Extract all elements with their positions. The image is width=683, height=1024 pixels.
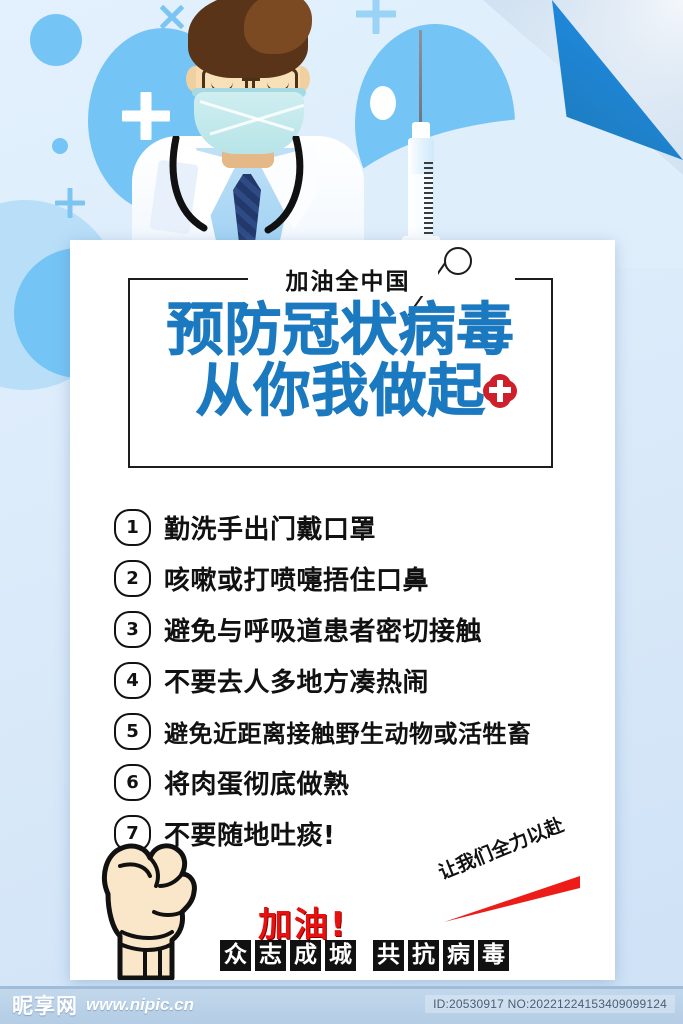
list-item: 6 将肉蛋彻底做熟 [114,757,594,808]
list-item-number: 4 [114,662,151,699]
medical-cross-icon [483,374,517,408]
asset-id-badge: ID:20530917 NO:20221224153409099124 [425,995,675,1013]
frame-border-bottom [128,466,553,468]
plus-icon [55,188,85,218]
boxed-character: 抗 [408,940,439,971]
background-blob [30,14,82,66]
background-blob [52,138,68,154]
title-frame: 加油全中国 预防冠状病毒 从你我做起 [128,278,553,468]
pledge-slogan-group: 让我们全力以赴 [440,840,620,930]
title-line-1: 预防冠状病毒 [128,300,553,361]
raised-fist-illustration [90,832,210,980]
glasses-bridge [242,78,260,81]
content-card: 加油全中国 预防冠状病毒 从你我做起 1 勤洗手出门戴口罩 2 咳嗽或打喷嚏捂住 [70,240,615,980]
site-url[interactable]: www.nipic.cn [86,995,194,1015]
list-item-number: 5 [114,713,151,750]
list-item: 5 避免近距离接触野生动物或活牲畜 [114,706,594,757]
list-item-text: 将肉蛋彻底做熟 [164,764,350,801]
list-item: 3 避免与呼吸道患者密切接触 [114,604,594,655]
syringe-needle [419,30,422,126]
header-badge-text: 加油全中国 [258,262,438,296]
syringe-illustration [398,30,444,246]
boxed-character: 病 [443,940,474,971]
list-item-text: 不要去人多地方凑热闹 [164,662,429,699]
list-item-text: 避免近距离接触野生动物或活牲畜 [164,714,532,749]
boxed-slogan-row: 众 志 成 城 共 抗 病 毒 [220,940,509,971]
boxed-character: 共 [373,940,404,971]
list-item-number: 1 [114,509,151,546]
cross-plus [488,379,512,403]
frame-border-top-right [515,278,553,280]
watermark-footer: 昵享网 www.nipic.cn ID:20530917 NO:20221224… [0,986,683,1024]
list-item-text: 避免与呼吸道患者密切接触 [164,611,482,648]
stethoscope-icon [146,136,326,246]
boxed-character: 毒 [478,940,509,971]
decorative-circle-icon [444,247,472,275]
list-item-number: 3 [114,611,151,648]
list-item: 2 咳嗽或打喷嚏捂住口鼻 [114,553,594,604]
list-item-text: 咳嗽或打喷嚏捂住口鼻 [164,560,429,597]
footer-divider [0,986,683,989]
boxed-character: 志 [255,940,286,971]
site-logo: 昵享网 [12,990,78,1020]
list-item-number: 2 [114,560,151,597]
boxed-character: 城 [325,940,356,971]
frame-border-top-left [128,278,248,280]
syringe-graduations [424,162,433,234]
boxed-character: 成 [290,940,321,971]
list-item: 4 不要去人多地方凑热闹 [114,655,594,706]
prevention-tips-list: 1 勤洗手出门戴口罩 2 咳嗽或打喷嚏捂住口鼻 3 避免与呼吸道患者密切接触 4… [114,502,594,859]
poster-root: 加油全中国 预防冠状病毒 从你我做起 1 勤洗手出门戴口罩 2 咳嗽或打喷嚏捂住 [0,0,683,1024]
list-item-text: 勤洗手出门戴口罩 [164,509,376,546]
list-item-number: 6 [114,764,151,801]
red-swoosh-shape [444,876,580,922]
doctor-illustration [118,0,378,246]
cheer-slogan: 加油! [258,897,348,946]
list-item: 1 勤洗手出门戴口罩 [114,502,594,553]
boxed-character: 众 [220,940,251,971]
